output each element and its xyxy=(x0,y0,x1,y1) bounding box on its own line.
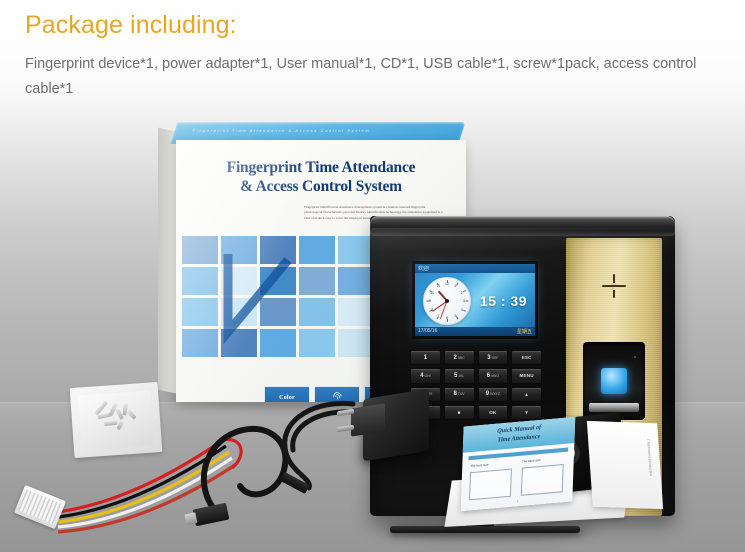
box-top-band-text: Fingerprint Time Attendance & Access Con… xyxy=(192,128,371,133)
mosaic-square xyxy=(182,236,218,264)
package-contents-text: Fingerprint device*1, power adapter*1, U… xyxy=(25,52,700,102)
paper-sheet-text: 1 Instrument introduction xyxy=(646,439,653,476)
manual-diagram-back xyxy=(521,464,564,496)
screw xyxy=(116,420,124,430)
mosaic-square xyxy=(260,329,296,357)
page-title: Package including: xyxy=(25,10,725,40)
mosaic-square xyxy=(260,267,296,295)
mosaic-square xyxy=(338,236,374,264)
mosaic-square xyxy=(182,329,218,357)
mosaic-square xyxy=(338,267,374,295)
manual-diagram-front xyxy=(469,469,512,501)
box-title: Fingerprint Time Attendance & Access Con… xyxy=(192,158,450,196)
screw xyxy=(104,421,117,426)
box-title-line1: Fingerprint Time Attendance xyxy=(192,158,450,177)
mosaic-square xyxy=(182,298,218,326)
mosaic-square xyxy=(221,298,257,326)
mosaic-square xyxy=(338,329,374,357)
mosaic-square xyxy=(221,329,257,357)
mosaic-square xyxy=(299,329,335,357)
product-package-figure: Package including: Fingerprint device*1,… xyxy=(0,0,745,552)
mosaic-square xyxy=(260,298,296,326)
mosaic-square xyxy=(221,267,257,295)
screw xyxy=(115,408,124,420)
mosaic-square xyxy=(182,267,218,295)
manual-title: Quick Manual of Time Attendance xyxy=(463,421,575,448)
manual-col-left-label: The front side xyxy=(470,463,488,469)
user-manual: Quick Manual of Time Attendance The fron… xyxy=(461,417,576,511)
header: Package including: Fingerprint device*1,… xyxy=(25,10,725,102)
mosaic-square xyxy=(299,267,335,295)
adapter-plug-plate xyxy=(351,403,385,436)
mosaic-square xyxy=(338,298,374,326)
manual-col-right-label: The back side xyxy=(522,458,541,464)
mosaic-square xyxy=(260,236,296,264)
screw xyxy=(127,410,136,420)
screws-group xyxy=(91,399,145,435)
screw xyxy=(109,403,118,416)
screw xyxy=(122,403,127,415)
screw xyxy=(94,401,108,416)
product-scene: Fingerprint Time Attendance & Access Con… xyxy=(0,104,745,552)
power-adapter xyxy=(345,384,430,462)
mosaic-square xyxy=(221,236,257,264)
box-title-line2: & Access Control System xyxy=(192,177,450,196)
paper-sheet-right: 1 Instrument introduction xyxy=(587,421,663,509)
manual-page-number: 1 xyxy=(517,499,519,503)
mosaic-square xyxy=(299,298,335,326)
mosaic-square xyxy=(299,236,335,264)
screw xyxy=(97,412,111,418)
